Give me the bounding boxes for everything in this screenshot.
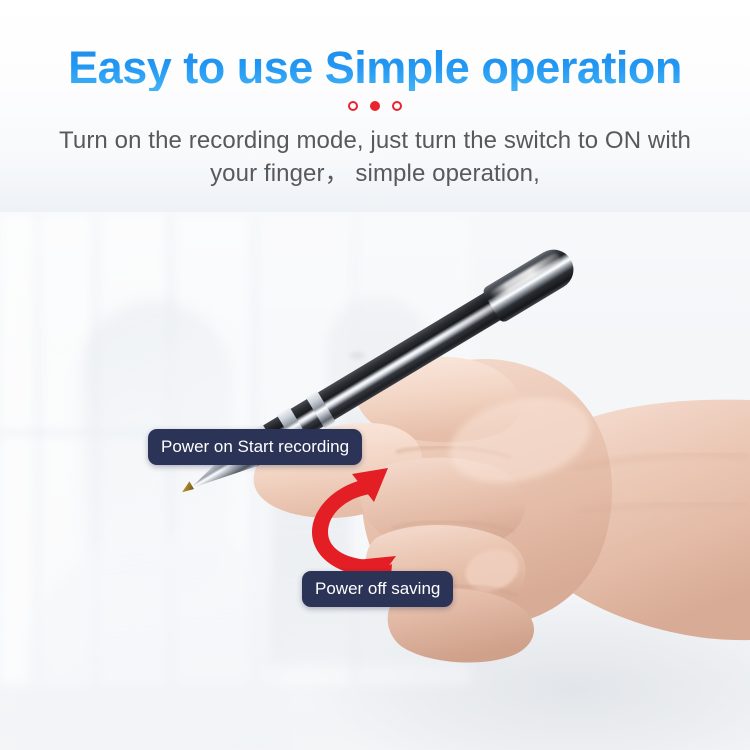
callout-power-on[interactable]: Power on Start recording xyxy=(148,429,362,465)
banner-header: Easy to use Simple operation Turn on the… xyxy=(0,0,750,212)
page-subtitle: Turn on the recording mode, just turn th… xyxy=(55,124,695,190)
product-feature-banner: Power on Start recording Power off savin… xyxy=(0,0,750,750)
callout-power-off[interactable]: Power off saving xyxy=(302,571,453,607)
dot-left-icon xyxy=(348,101,358,111)
rotation-arrow-icon xyxy=(296,468,426,588)
dot-right-icon xyxy=(392,101,402,111)
page-title: Easy to use Simple operation xyxy=(0,44,750,91)
decorative-dots xyxy=(0,101,750,111)
dot-center-icon xyxy=(370,101,380,111)
pen-gold-nib xyxy=(179,481,194,495)
